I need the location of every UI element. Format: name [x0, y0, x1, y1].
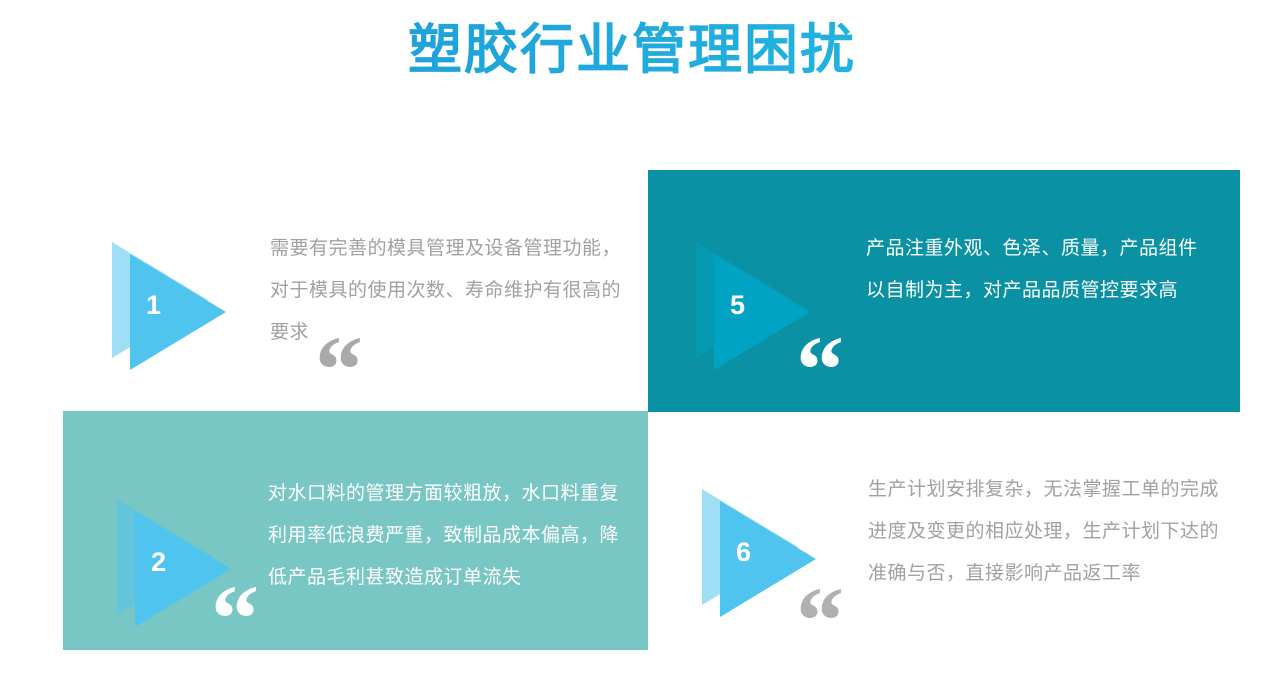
card-2[interactable]: 2 “ 对水口料的管理方面较粗放，水口料重复利用率低浪费严重，致制品成本偏高，降…	[63, 411, 648, 650]
card-number-1: 1	[146, 292, 161, 319]
card-number-5: 5	[730, 292, 745, 319]
card-text-1: 需要有完善的模具管理及设备管理功能，对于模具的使用次数、寿命维护有很高的要求	[270, 228, 640, 354]
card-text-6: 生产计划安排复杂，无法掌握工单的完成进度及变更的相应处理，生产计划下达的准确与否…	[868, 469, 1230, 595]
quote-icon-2: “	[211, 571, 259, 667]
card-number-6: 6	[736, 539, 751, 566]
card-5[interactable]: 5 “ 产品注重外观、色泽、质量，产品组件以自制为主，对产品品质管控要求高	[648, 170, 1240, 412]
slide-canvas: 塑胶行业管理困扰 1 “ 需要有完善的模具管理及设备管理功能，对于模具的使用次数…	[0, 0, 1264, 650]
triangle-front-icon-1	[130, 254, 226, 370]
card-text-5: 产品注重外观、色泽、质量，产品组件以自制为主，对产品品质管控要求高	[866, 228, 1216, 312]
page-title: 塑胶行业管理困扰	[0, 16, 1264, 85]
card-number-2: 2	[151, 549, 166, 576]
quote-icon-6: “	[796, 573, 844, 669]
card-1[interactable]: 1 “ 需要有完善的模具管理及设备管理功能，对于模具的使用次数、寿命维护有很高的…	[110, 170, 648, 412]
card-text-2: 对水口料的管理方面较粗放，水口料重复利用率低浪费严重，致制品成本偏高，降低产品毛…	[268, 473, 628, 599]
card-6[interactable]: 6 “ 生产计划安排复杂，无法掌握工单的完成进度及变更的相应处理，生产计划下达的…	[690, 411, 1250, 650]
number-badge-1: 1	[112, 242, 230, 366]
quote-icon-5: “	[796, 322, 844, 418]
